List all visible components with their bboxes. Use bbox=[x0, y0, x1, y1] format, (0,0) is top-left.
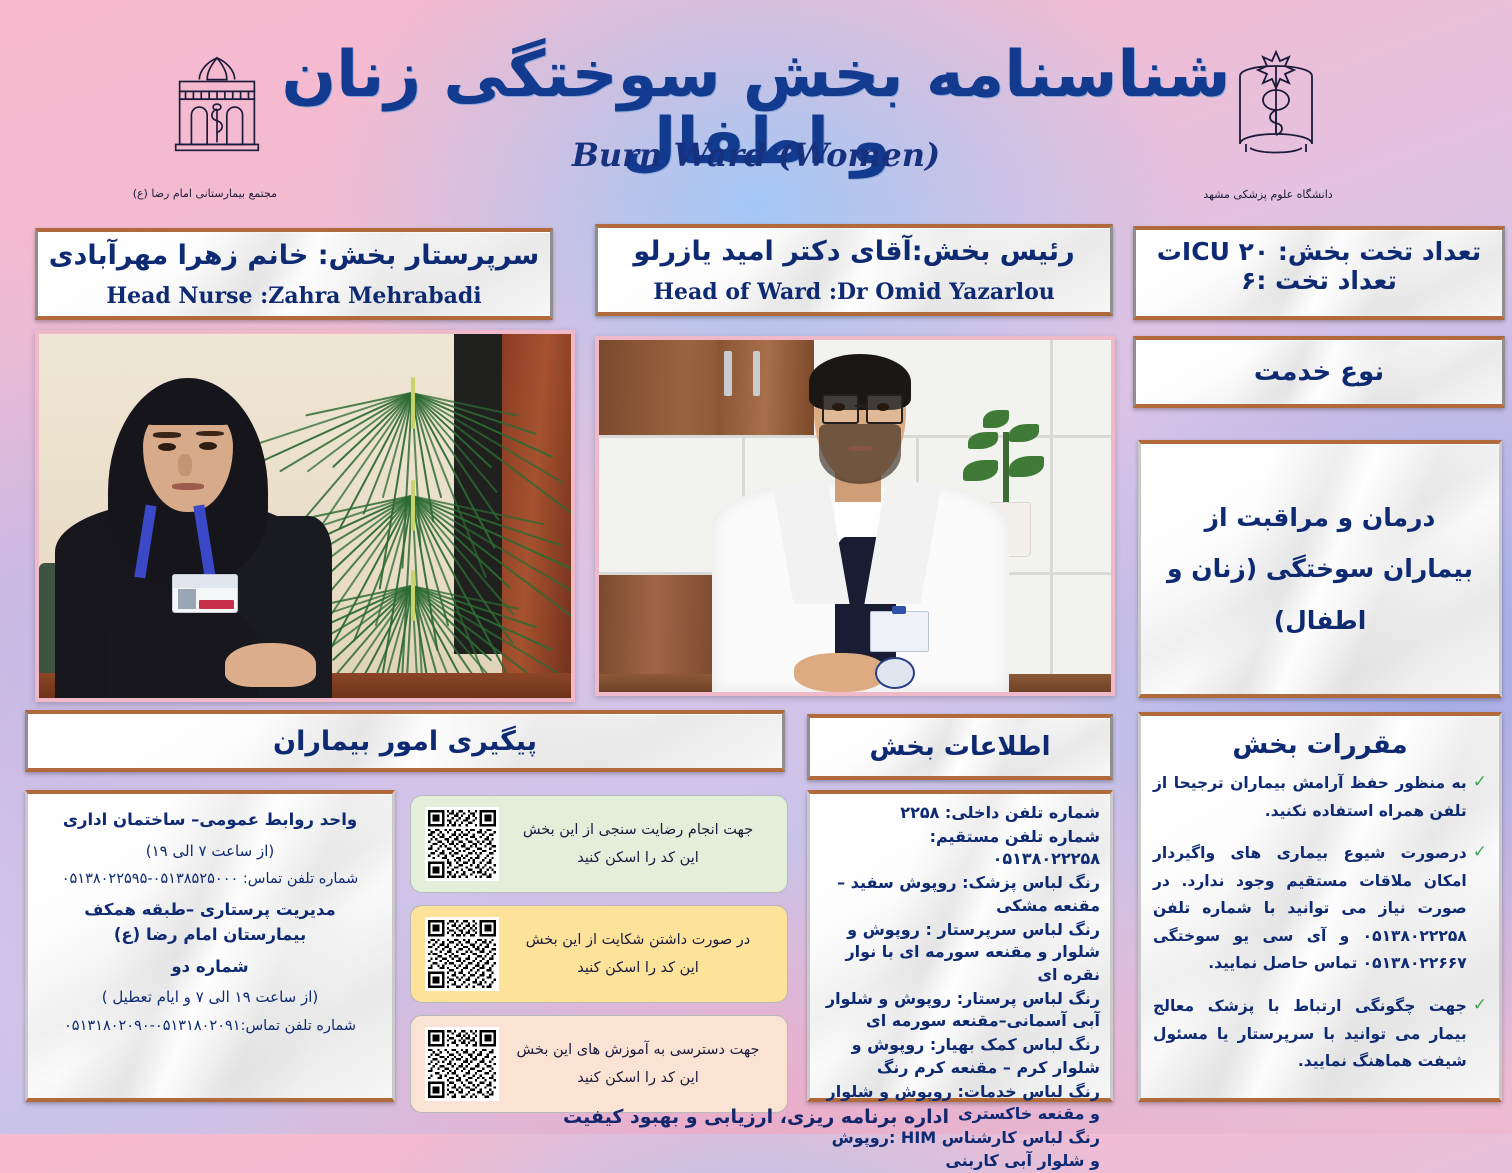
check-icon: ✓ bbox=[1473, 772, 1487, 792]
patient-followup-header: پیگیری امور بیماران bbox=[25, 710, 785, 772]
page-header: مجتمع بیمارستانی امام رضا (ع) دانشگاه عل… bbox=[0, 0, 1512, 215]
wristwatch bbox=[875, 657, 915, 689]
contact-unit1-phone: شماره تلفن تماس: ۰۵۱۳۸۵۲۵۰۰۰-۰۵۱۳۸۰۲۲۵۹۵ bbox=[40, 869, 380, 891]
rule-text: درصورت شیوع بیماری های واگیردار امکان مل… bbox=[1153, 840, 1467, 978]
head-of-ward-card: رئیس بخش:آقای دکتر امید یازرلو Head of W… bbox=[595, 224, 1113, 316]
university-logo-caption: دانشگاه علوم پزشکی مشهد bbox=[1198, 188, 1338, 201]
ward-info-heading: اطلاعات بخش bbox=[869, 732, 1050, 762]
head-nurse-name-fa: سرپرستار بخش: خانم زهرا مهرآبادی bbox=[38, 240, 550, 271]
qr-card-text: جهت دسترسی به آموزش های این بخش این کد ر… bbox=[499, 1036, 777, 1093]
contact-unit2-phone: شماره تلفن تماس:۰۵۱۳۱۸۰۲۰۹۱-۰۵۱۳۱۸۰۲۰۹۰ bbox=[40, 1016, 380, 1038]
rule-item: ✓ به منظور حفظ آرامش بیماران ترجیحا از ت… bbox=[1153, 770, 1487, 825]
qr-card-text: در صورت داشتن شکایت از این بخش این کد را… bbox=[499, 926, 777, 983]
qr-card-complaint[interactable]: در صورت داشتن شکایت از این بخش این کد را… bbox=[410, 905, 788, 1003]
head-nurse-photo bbox=[35, 330, 575, 702]
qr-code-icon[interactable] bbox=[425, 917, 499, 991]
ward-info-line: شماره تلفن مستقیم: ۰۵۱۳۸۰۲۲۲۵۸ bbox=[820, 826, 1100, 871]
id-badge bbox=[870, 611, 928, 652]
contact-unit2-hours: (از ساعت ۱۹ الی ۷ و ایام تعطیل ) bbox=[40, 986, 380, 1009]
contact-unit2-sub: شماره دو bbox=[40, 955, 380, 980]
page-title-en: Burn Ward (Women) bbox=[256, 136, 1256, 174]
head-of-ward-name-en: Head of Ward :Dr Omid Yazarlou bbox=[598, 279, 1110, 305]
head-of-ward-name-fa: رئیس بخش:آقای دکتر امید یازرلو bbox=[598, 236, 1110, 267]
service-type-box: درمان و مراقبت از بیماران سوختگی (زنان و… bbox=[1138, 440, 1502, 698]
service-type-heading: نوع خدمت bbox=[1254, 357, 1384, 387]
qr-card-education[interactable]: جهت دسترسی به آموزش های این بخش این کد ر… bbox=[410, 1015, 788, 1113]
contact-unit-public-relations: واحد روابط عمومی– ساختمان اداری bbox=[40, 808, 380, 833]
patient-followup-heading: پیگیری امور بیماران bbox=[273, 726, 537, 757]
head-nurse-card: سرپرستار بخش: خانم زهرا مهرآبادی Head Nu… bbox=[35, 228, 553, 320]
ward-bed-count: تعداد تخت بخش: ۲۰ ICUت bbox=[1136, 238, 1502, 267]
qr-card-text: جهت انجام رضایت سنجی از این بخش این کد ر… bbox=[499, 816, 777, 873]
rule-text: به منظور حفظ آرامش بیماران ترجیحا از تلف… bbox=[1153, 770, 1467, 825]
id-badge bbox=[172, 574, 238, 612]
rule-item: ✓ جهت چگونگی ارتباط با پزشک معالج بیمار … bbox=[1153, 993, 1487, 1076]
service-type-text: درمان و مراقبت از بیماران سوختگی (زنان و… bbox=[1141, 492, 1499, 646]
check-icon: ✓ bbox=[1473, 995, 1487, 1015]
qr-card-satisfaction-survey[interactable]: جهت انجام رضایت سنجی از این بخش این کد ر… bbox=[410, 795, 788, 893]
ward-rules-box: مقررات بخش ✓ به منظور حفظ آرامش بیماران … bbox=[1138, 712, 1502, 1102]
head-nurse-name-en: Head Nurse :Zahra Mehrabadi bbox=[38, 283, 550, 309]
ward-info-line: شماره تلفن داخلی: ۲۲۵۸ bbox=[820, 802, 1100, 825]
ward-info-box: شماره تلفن داخلی: ۲۲۵۸ شماره تلفن مستقیم… bbox=[807, 790, 1113, 1102]
rule-text: جهت چگونگی ارتباط با پزشک معالج بیمار می… bbox=[1153, 993, 1467, 1076]
contact-unit1-hours: (از ساعت ۷ الی ۱۹) bbox=[40, 840, 380, 863]
contact-unit-nursing-management: مدیریت پرستاری –طبقه همکف بیمارستان امام… bbox=[40, 898, 380, 948]
ward-info-line: رنگ لباس خدمات: روپوش و شلوار و مقنعه خا… bbox=[820, 1081, 1100, 1126]
service-type-header: نوع خدمت bbox=[1133, 336, 1505, 408]
contact-info-box: واحد روابط عمومی– ساختمان اداری (از ساعت… bbox=[25, 790, 395, 1102]
ward-info-line: رنگ لباس کمک بهیار: روپوش و شلوار کرم – … bbox=[820, 1034, 1100, 1079]
ward-info-line: رنگ لباس پرستار: روپوش و شلوار آبی آسمان… bbox=[820, 988, 1100, 1033]
hospital-logo-caption: مجتمع بیمارستانی امام رضا (ع) bbox=[142, 187, 277, 200]
plant-decoration bbox=[332, 349, 492, 669]
icu-bed-count: تعداد تخت :۶ bbox=[1136, 267, 1502, 296]
ward-info-line: رنگ لباس پزشک: روپوش سفید –مقنعه مشکی bbox=[820, 872, 1100, 917]
ward-info-line: رنگ لباس سرپرستار : روپوش و شلوار و مقنع… bbox=[820, 919, 1100, 987]
ward-rules-heading: مقررات بخش bbox=[1153, 730, 1487, 760]
head-of-ward-photo bbox=[595, 336, 1115, 696]
ward-info-header: اطلاعات بخش bbox=[807, 714, 1113, 780]
qr-code-icon[interactable] bbox=[425, 807, 499, 881]
bed-count-box: تعداد تخت بخش: ۲۰ ICUت تعداد تخت :۶ bbox=[1133, 226, 1505, 320]
check-icon: ✓ bbox=[1473, 842, 1487, 862]
qr-code-icon[interactable] bbox=[425, 1027, 499, 1101]
rule-item: ✓ درصورت شیوع بیماری های واگیردار امکان … bbox=[1153, 840, 1487, 978]
footer-text: اداره برنامه ریزی، ارزیابی و بهبود کیفیت bbox=[0, 1106, 1512, 1128]
